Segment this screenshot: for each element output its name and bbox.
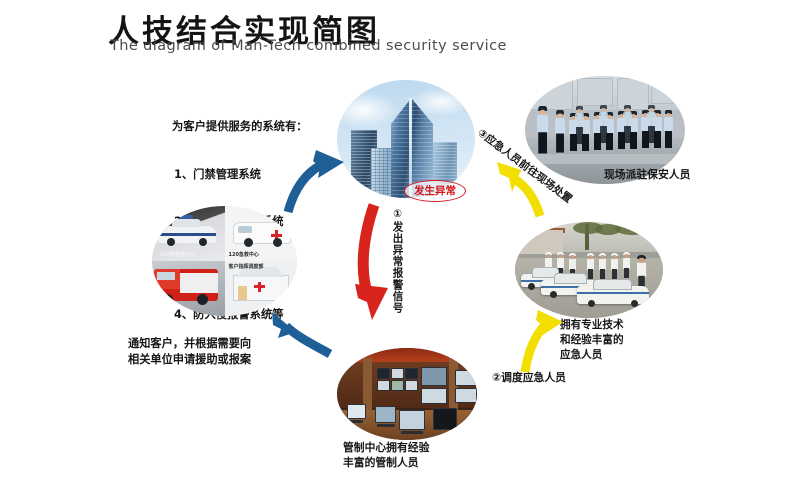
- background-building: [577, 78, 613, 106]
- diagram-canvas: 人技结合实现简图 The diagram of Man-Tech combine…: [0, 0, 802, 477]
- background-building: [531, 78, 573, 110]
- keyboard: [377, 424, 395, 427]
- quadrant-facility: 客户指挥调度部: [225, 261, 298, 316]
- vehicle-label: 客户指挥调度部: [229, 263, 264, 270]
- quadrant-ambulance: 120急救中心: [225, 206, 298, 261]
- photo-patrol-cars: [515, 222, 663, 318]
- background-building: [651, 78, 683, 104]
- photo-building-tower: [337, 80, 475, 198]
- caption-control-center: 管制中心拥有经验 丰富的管制人员: [343, 440, 429, 470]
- caption-security-guards: 现场派驻保安人员: [604, 168, 690, 183]
- police-car: [158, 226, 216, 243]
- wall-monitor-large: [421, 388, 447, 404]
- wall-monitor-large: [421, 367, 447, 386]
- aid-station-building: [233, 275, 289, 301]
- wall-monitor: [405, 380, 418, 391]
- caption-emergency-personnel: 拥有专业技术 和经验丰富的 应急人员: [560, 318, 624, 363]
- caption-notify-client: 通知客户，并根据需要向 相关单位申请援助或报案: [128, 336, 251, 368]
- wall-monitor: [391, 380, 404, 391]
- step-1-label: ①发出异常报警信号: [392, 208, 403, 314]
- wall-column: [363, 358, 372, 410]
- quadrant-fire-truck: [152, 261, 225, 316]
- keyboard: [401, 431, 423, 434]
- ambulance: [233, 222, 291, 244]
- background-building: [617, 78, 649, 110]
- status-badge-anomaly: 发生异常: [404, 180, 466, 202]
- vehicle-label: 110报警服务台: [160, 251, 195, 258]
- desk-monitor: [347, 404, 366, 419]
- yellow-arrow-to-patrol-cars: [525, 310, 563, 372]
- background-wall: [519, 230, 563, 254]
- patrol-car: [577, 286, 649, 304]
- keyboard: [347, 420, 363, 423]
- desk-monitor-off: [433, 408, 457, 430]
- wall-monitor: [377, 368, 390, 379]
- wall-monitor: [377, 380, 390, 391]
- palm-frond: [615, 222, 649, 235]
- wall-monitor: [391, 368, 404, 379]
- wall-monitor: [455, 388, 477, 403]
- services-heading: 为客户提供服务的系统有：: [172, 119, 308, 135]
- road-strip: [525, 154, 685, 164]
- quadrant-police: 110报警服务台: [152, 206, 225, 261]
- step-2-label: ②调度应急人员: [492, 371, 566, 386]
- services-item: 1、门禁管理系统: [172, 167, 308, 183]
- photo-emergency-vehicles: 110报警服务台 120急救中心 客户指挥调度部: [152, 206, 297, 316]
- wall-monitor: [405, 368, 418, 379]
- photo-control-center: [337, 348, 477, 440]
- desk-monitor: [399, 410, 425, 430]
- vehicle-label: 120急救中心: [229, 251, 259, 258]
- wall-monitor: [455, 370, 477, 386]
- desk-monitor: [375, 406, 396, 423]
- fire-truck: [154, 269, 218, 301]
- red-arrow-to-control-center: [355, 205, 388, 320]
- page-subtitle: The diagram of Man-Tech combined securit…: [110, 38, 507, 54]
